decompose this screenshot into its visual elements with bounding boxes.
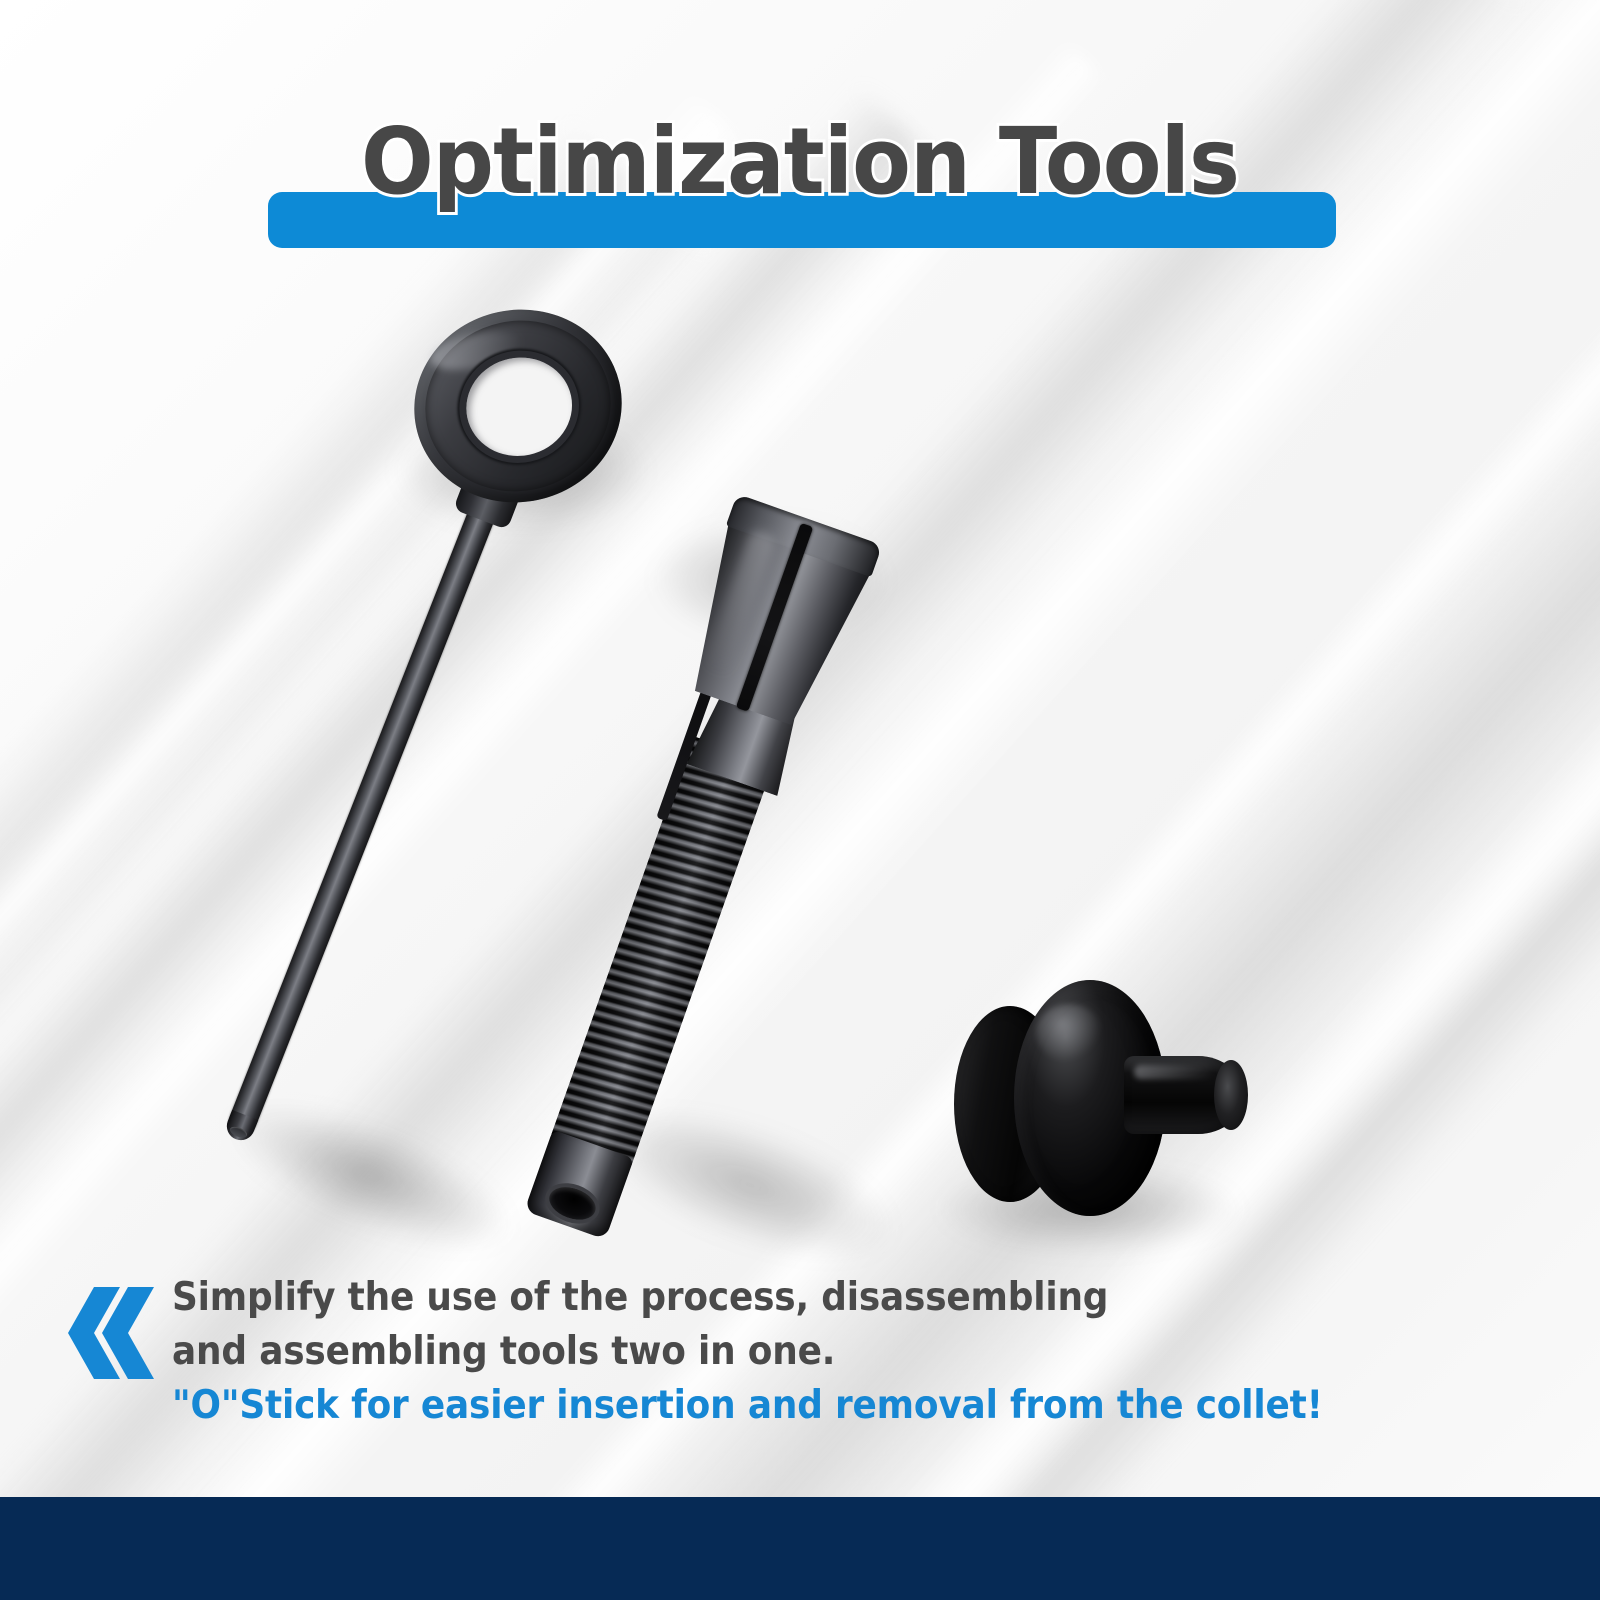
- puck-pin-highlight: [1134, 1065, 1214, 1079]
- page-title: Optimization Tools: [0, 104, 1600, 254]
- title-label: Optimization Tools: [56, 104, 1544, 219]
- caption-line-1: Simplify the use of the process, disasse…: [172, 1271, 1368, 1325]
- o-stick-rod: [223, 481, 506, 1143]
- puck-pin: [1124, 1056, 1244, 1134]
- puck-disc-highlight: [1036, 1004, 1102, 1062]
- puck-pin-cap: [1214, 1060, 1248, 1130]
- footer-bar: [0, 1497, 1600, 1600]
- product-stage: [0, 250, 1600, 1260]
- caption-line-2: and assembling tools two in one.: [172, 1325, 1368, 1379]
- caption-text: Simplify the use of the process, disasse…: [172, 1271, 1368, 1433]
- caption-line-3: "O"Stick for easier insertion and remova…: [172, 1379, 1368, 1433]
- double-chevron-left-icon: [48, 1287, 154, 1379]
- product-drive-pin-puck: [940, 970, 1260, 1240]
- caption-block: Simplify the use of the process, disasse…: [0, 1265, 1600, 1460]
